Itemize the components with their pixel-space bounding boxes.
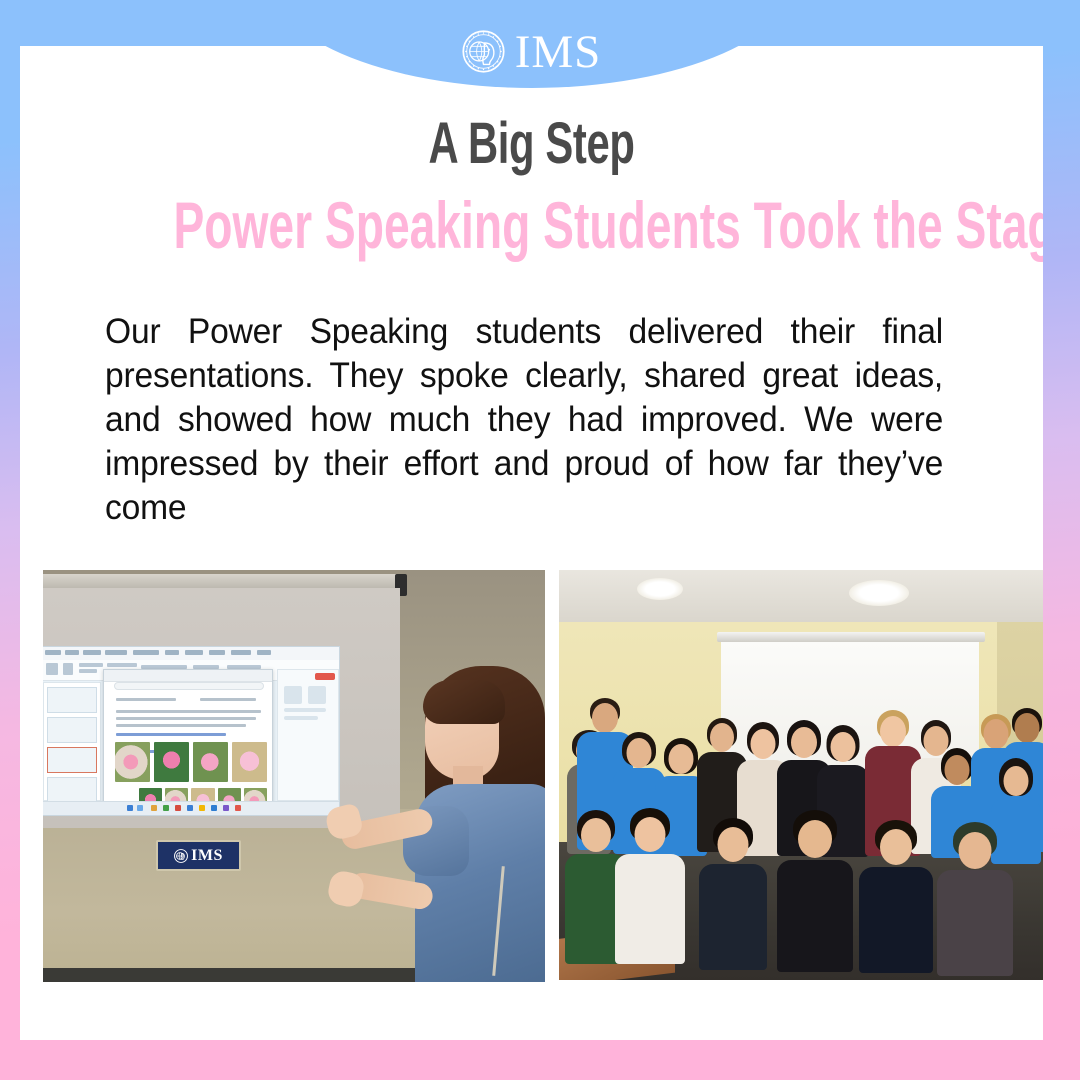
flower-image-row bbox=[115, 742, 267, 782]
body-paragraph: Our Power Speaking students delivered th… bbox=[105, 310, 943, 530]
person bbox=[615, 808, 685, 954]
browser-window bbox=[103, 669, 273, 809]
page-title: A Big Step bbox=[163, 115, 900, 173]
photo-group bbox=[559, 570, 1043, 980]
ims-wall-plaque: IMS bbox=[156, 840, 241, 871]
ims-globe-head-emblem-icon bbox=[174, 849, 188, 863]
page-subtitle: Power Speaking Students Took the Stage bbox=[173, 192, 889, 258]
person bbox=[937, 822, 1013, 962]
photo-presentation: IMS bbox=[43, 570, 545, 982]
task-pane bbox=[277, 669, 339, 801]
ceiling-light bbox=[849, 580, 909, 606]
browser-tabbar bbox=[104, 670, 272, 682]
os-taskbar bbox=[43, 801, 339, 815]
brand-lockup: IMS bbox=[20, 23, 1043, 79]
person bbox=[777, 810, 853, 958]
person bbox=[699, 818, 767, 956]
ceiling bbox=[559, 570, 1043, 622]
projector-screen-frame bbox=[717, 632, 985, 642]
close-button[interactable] bbox=[315, 673, 335, 680]
projected-desktop bbox=[43, 646, 340, 816]
photo-gallery: IMS bbox=[43, 570, 1043, 982]
slide-thumbnail-pane bbox=[43, 682, 101, 801]
card-bottom-spacer bbox=[20, 988, 1043, 1040]
browser-addressbar bbox=[114, 682, 264, 690]
presenter-figure bbox=[367, 666, 545, 982]
ims-globe-head-emblem-icon bbox=[462, 30, 505, 73]
poster-card: IMS A Big Step Power Speaking Students T… bbox=[20, 20, 1043, 1040]
projector-screen bbox=[43, 588, 400, 828]
poster-canvas: IMS A Big Step Power Speaking Students T… bbox=[0, 0, 1080, 1080]
ceiling-light bbox=[637, 578, 683, 600]
person bbox=[859, 820, 933, 960]
brand-wordmark: IMS bbox=[515, 29, 602, 76]
plaque-text: IMS bbox=[191, 848, 223, 864]
app-titlebar bbox=[43, 647, 339, 661]
